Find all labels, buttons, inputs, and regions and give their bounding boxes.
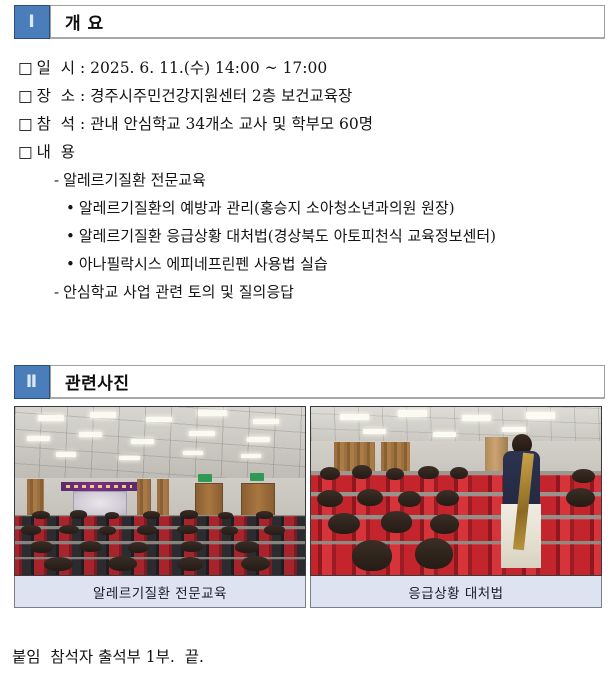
body-line: □일 시 : 2025. 6. 11.(수) 14:00 ~ 17:00	[14, 54, 609, 82]
body-line: □장 소 : 경주시주민건강지원센터 2층 보건교육장	[14, 82, 609, 110]
attachment-footer: 붙임 참석자 출석부 1부. 끝.	[12, 645, 204, 667]
instructor-figure	[500, 434, 544, 568]
list-marker-bullet: •	[66, 255, 75, 273]
section-header-overview: Ⅰ 개 요	[14, 5, 605, 39]
body-line: -알레르기질환 전문교육	[14, 166, 609, 194]
body-line-text: 내 용	[37, 143, 75, 161]
body-line: □내 용	[14, 138, 609, 166]
section-title-photos: 관련사진	[50, 365, 605, 399]
list-marker-checkbox: □	[18, 59, 33, 77]
list-marker-checkbox: □	[18, 87, 33, 105]
body-line: -안심학교 사업 관련 토의 및 질의응답	[14, 278, 609, 306]
body-line-text: 아나필락시스 에피네프린펜 사용법 실습	[79, 255, 328, 273]
section-title-overview: 개 요	[50, 5, 605, 39]
body-line-text: 알레르기질환의 예방과 관리(홍승지 소아청소년과의원 원장)	[79, 199, 455, 217]
ceiling	[311, 407, 601, 444]
photo-cell-left: 알레르기질환 전문교육	[14, 406, 306, 608]
audience-seating	[311, 471, 601, 575]
body-line: •아나필락시스 에피네프린펜 사용법 실습	[14, 250, 609, 278]
body-line: □참 석 : 관내 안심학교 34개소 교사 및 학부모 60명	[14, 110, 609, 138]
body-line-text: 장 소 : 경주시주민건강지원센터 2층 보건교육장	[37, 87, 353, 105]
list-marker-checkbox: □	[18, 115, 33, 133]
photo-cell-right: 응급상황 대처법	[310, 406, 602, 608]
list-marker-checkbox: □	[18, 143, 33, 161]
event-banner	[61, 482, 136, 491]
photo-table: 알레르기질환 전문교육	[14, 406, 603, 608]
overview-body: □일 시 : 2025. 6. 11.(수) 14:00 ~ 17:00 □장 …	[14, 54, 609, 306]
section-header-photos: Ⅱ 관련사진	[14, 365, 605, 399]
body-line-text: 참 석 : 관내 안심학교 34개소 교사 및 학부모 60명	[37, 115, 373, 133]
photo-caption-right: 응급상황 대처법	[310, 576, 602, 608]
list-marker-bullet: •	[66, 227, 75, 245]
list-marker-dash: -	[54, 171, 59, 189]
section-badge-2: Ⅱ	[14, 365, 50, 399]
audience-seating	[15, 515, 305, 575]
photo-emergency-training	[310, 406, 602, 576]
body-line-text: 안심학교 사업 관련 토의 및 질의응답	[63, 283, 294, 301]
body-line: •알레르기질환의 예방과 관리(홍승지 소아청소년과의원 원장)	[14, 194, 609, 222]
list-marker-bullet: •	[66, 199, 75, 217]
section-badge-1: Ⅰ	[14, 5, 50, 39]
photo-lecture-hall	[14, 406, 306, 576]
body-line-text: 알레르기질환 응급상황 대처법(경상북도 아토피천식 교육정보센터)	[79, 227, 496, 245]
body-line-text: 일 시 : 2025. 6. 11.(수) 14:00 ~ 17:00	[37, 59, 328, 77]
photo-caption-left: 알레르기질환 전문교육	[14, 576, 306, 608]
body-line-text: 알레르기질환 전문교육	[63, 171, 206, 189]
list-marker-dash: -	[54, 283, 59, 301]
body-line: •알레르기질환 응급상황 대처법(경상북도 아토피천식 교육정보센터)	[14, 222, 609, 250]
